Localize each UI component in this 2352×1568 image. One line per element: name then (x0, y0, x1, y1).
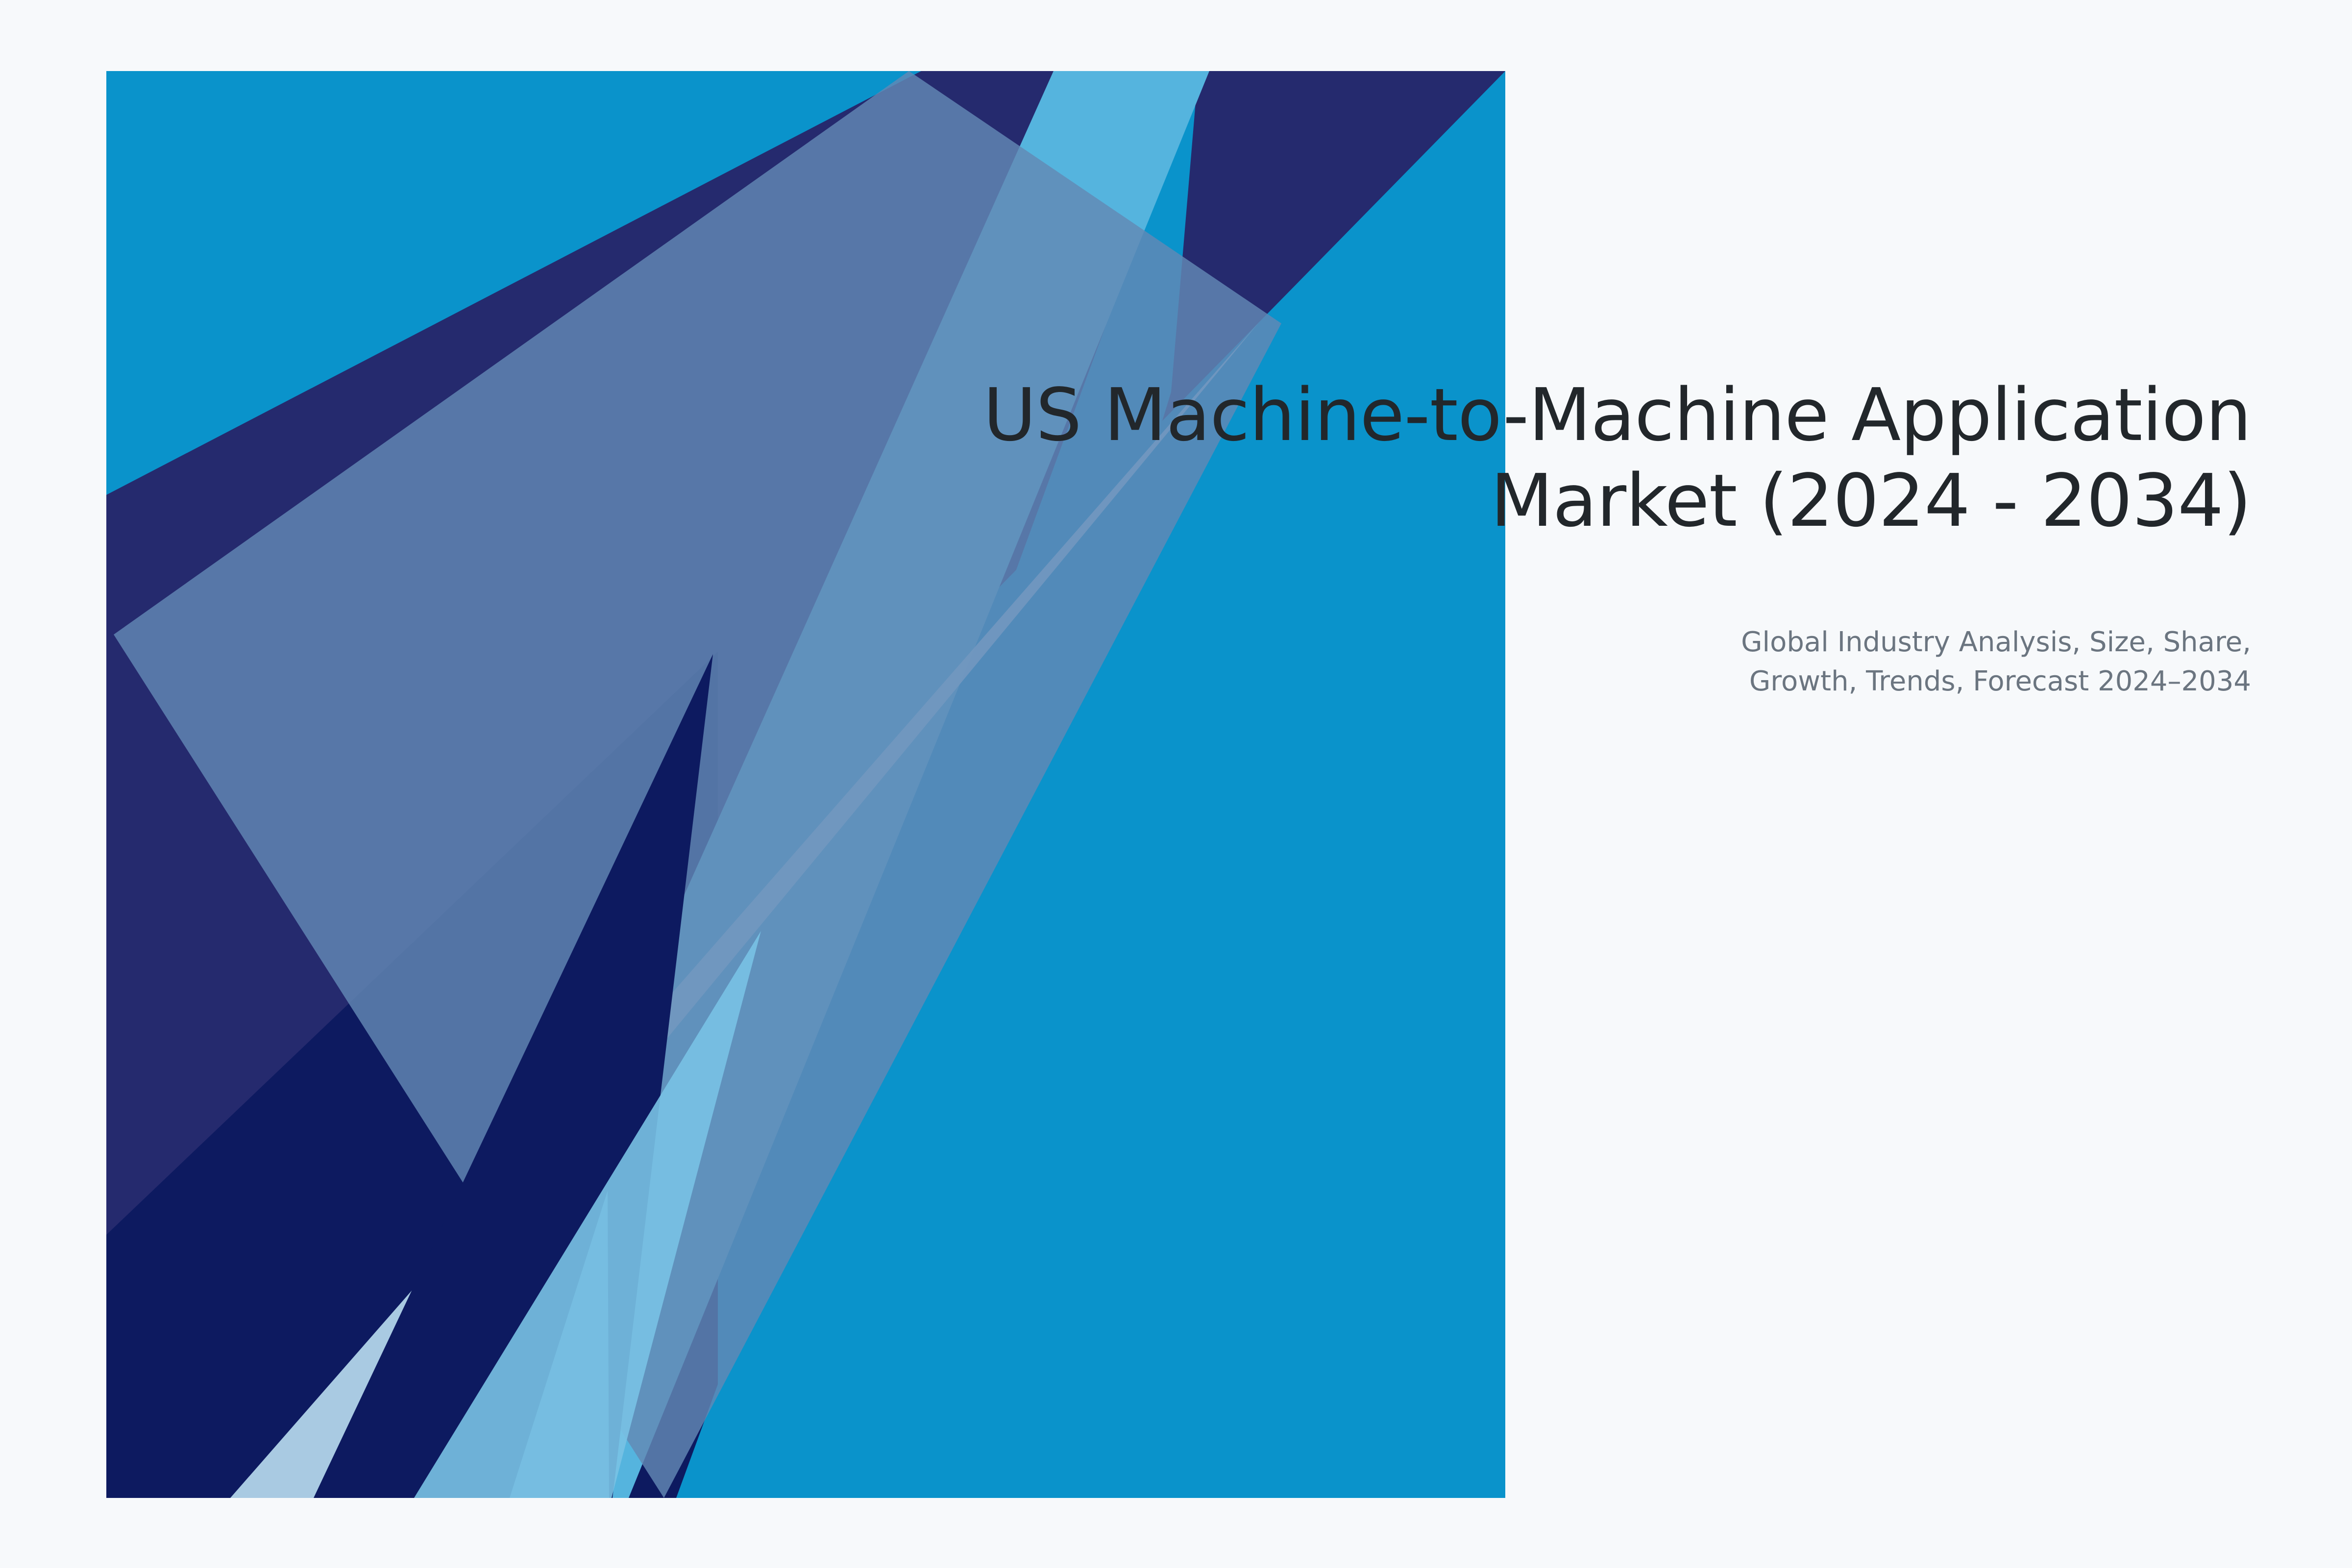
title-wrapper: US Machine-to-Machine Application Market… (781, 372, 2251, 543)
cover-text-block: US Machine-to-Machine Application Market… (781, 372, 2251, 701)
cover-page: US Machine-to-Machine Application Market… (0, 0, 2352, 1568)
cover-artwork (0, 0, 2352, 1568)
page-subtitle: Global Industry Analysis, Size, Share, G… (781, 543, 2251, 701)
page-title: US Machine-to-Machine Application Market… (781, 372, 2251, 543)
